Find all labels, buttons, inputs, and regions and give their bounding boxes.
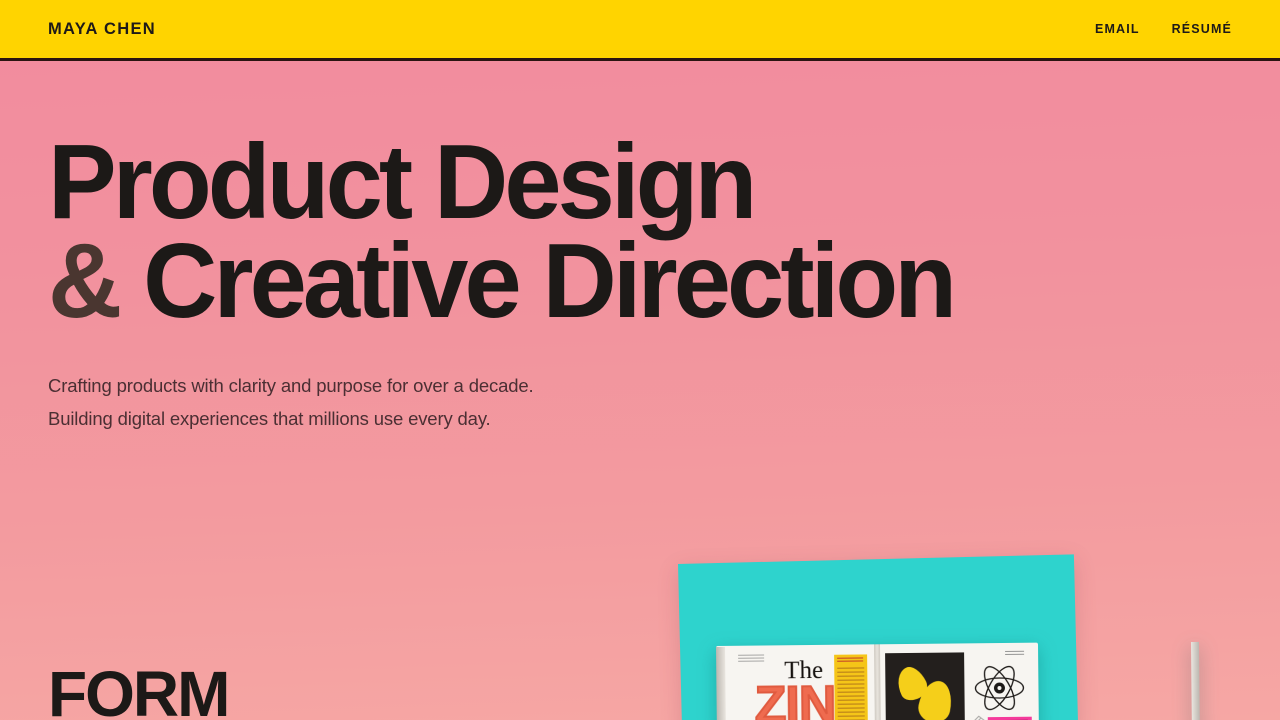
hero-subtitle: Crafting products with clarity and purpo…	[48, 370, 1232, 435]
magazine-folio-text	[1005, 651, 1024, 656]
brand-logo[interactable]: MAYA CHEN	[48, 20, 156, 39]
headline-line-1: Product Design	[48, 133, 1196, 232]
headline-line-2: & Creative Direction	[48, 232, 1196, 331]
hero-section: Product Design & Creative Direction Craf…	[0, 61, 1280, 435]
yellow-column-body-lines	[837, 667, 865, 720]
magazine-dark-panel	[885, 652, 965, 720]
magazine-yellow-column	[834, 654, 868, 720]
page-edge-right	[1191, 642, 1200, 720]
magazine-left-page: The ZIN	[716, 644, 878, 720]
headline-ampersand: &	[48, 222, 118, 340]
magazine-title-word: ZIN	[754, 679, 835, 720]
hero-subtitle-line-1: Crafting products with clarity and purpo…	[48, 370, 1232, 402]
section-heading-form: FORM	[48, 662, 228, 720]
open-magazine: The ZIN	[716, 643, 1039, 720]
page-edge-left	[716, 647, 726, 720]
magazine-spine	[874, 644, 881, 720]
magazine-right-page	[877, 643, 1039, 720]
headline-line-2-text: Creative Direction	[143, 222, 953, 340]
main-navigation: EMAIL RÉSUMÉ	[1095, 22, 1232, 36]
magazine-kicker-text	[738, 654, 764, 662]
atom-diagram-icon	[973, 663, 1026, 714]
nav-link-email[interactable]: EMAIL	[1095, 22, 1140, 36]
magazine-photo: The ZIN	[660, 550, 1100, 720]
page-title: Product Design & Creative Direction	[48, 133, 1196, 330]
site-header: MAYA CHEN EMAIL RÉSUMÉ	[0, 0, 1280, 61]
hero-subtitle-line-2: Building digital experiences that millio…	[48, 403, 1232, 435]
yellow-column-heading-lines	[837, 657, 863, 663]
nav-link-resume[interactable]: RÉSUMÉ	[1172, 22, 1232, 36]
